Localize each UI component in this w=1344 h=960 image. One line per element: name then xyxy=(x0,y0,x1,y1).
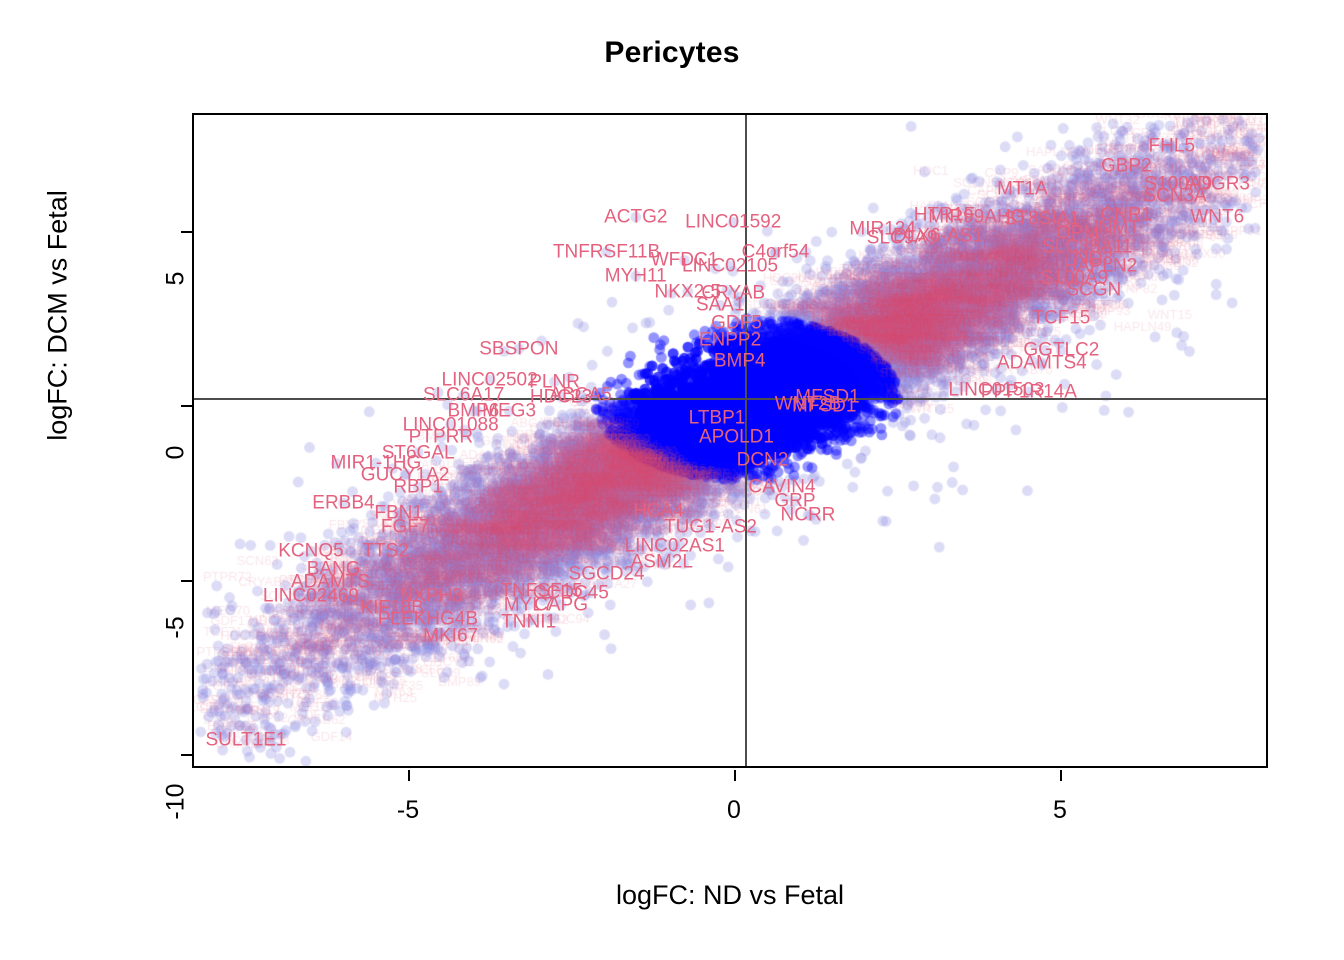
x-axis-title: logFC: ND vs Fetal xyxy=(192,880,1268,911)
gene-label: INMT xyxy=(1093,218,1139,237)
gene-label: FHL5 xyxy=(1149,137,1195,156)
plot-canvas-root: Pericytes logFC: DCM vs Fetal logFC: ND … xyxy=(0,0,1344,960)
plot-area: FHL5GBP2S100A9ADGR3SCN3AWNT6CNR1INMTMT1A… xyxy=(192,113,1268,768)
gene-label: ADAMTS4 xyxy=(997,353,1087,372)
gene-label: HDC23 xyxy=(530,388,592,407)
y-tick-label--5: -5 xyxy=(162,583,191,673)
gene-label: MIR124 xyxy=(849,220,916,239)
y-tick-label-0: 0 xyxy=(162,408,191,498)
gene-label: DCN2 xyxy=(737,450,789,469)
x-tick--5 xyxy=(408,770,410,781)
gene-label: APOLD1 xyxy=(699,428,774,447)
gene-label: SCN3A xyxy=(1143,187,1206,206)
gene-label: WNT6 xyxy=(1190,208,1244,227)
gene-label: MFSD1 xyxy=(792,396,856,415)
horizontal-reference-line xyxy=(194,398,1266,400)
gene-label: RBP1 xyxy=(393,478,443,497)
x-tick-label-5: 5 xyxy=(1000,796,1120,825)
gene-label: TCF15 xyxy=(1032,308,1090,327)
gene-label: ACTG2 xyxy=(604,208,667,227)
gene-label: ERBB4 xyxy=(312,493,374,512)
x-tick-5 xyxy=(1060,770,1062,781)
gene-label: LINC01503 xyxy=(948,381,1044,400)
gene-label: SBSPON xyxy=(479,339,558,358)
gene-label: BMP4 xyxy=(714,351,766,370)
gene-label: TNFRSF11B xyxy=(553,242,660,261)
gene-label: SCGN xyxy=(1066,280,1121,299)
y-axis-title: logFC: DCM vs Fetal xyxy=(43,116,74,516)
gene-label: CAVIN4 xyxy=(748,478,815,497)
gene-label: LTBP1 xyxy=(689,408,746,427)
page-title: Pericytes xyxy=(0,36,1344,70)
gene-label: ENPP2 xyxy=(699,331,761,350)
gene-label: MKI67 xyxy=(423,627,478,646)
gene-label: LINC01592 xyxy=(685,213,781,232)
y-tick-label-5: 5 xyxy=(162,234,191,324)
gene-label: C4orf54 xyxy=(742,242,810,261)
gene-label: FGF7 xyxy=(381,518,430,537)
gene-label: TTS2 xyxy=(362,542,408,561)
x-tick-label--5: -5 xyxy=(348,796,468,825)
gene-label: MT1A xyxy=(997,180,1048,199)
y-tick-label--10: -10 xyxy=(162,757,191,847)
x-tick-label-0: 0 xyxy=(674,796,794,825)
gene-label: TNNI1 xyxy=(501,613,556,632)
gene-label: LINC02469 xyxy=(263,587,359,606)
gene-label: SULT1E1 xyxy=(205,731,286,750)
gene-label: TUG1-AS2 xyxy=(664,518,757,537)
gene-label: SGCD24 xyxy=(569,564,645,583)
x-tick-0 xyxy=(734,770,736,781)
